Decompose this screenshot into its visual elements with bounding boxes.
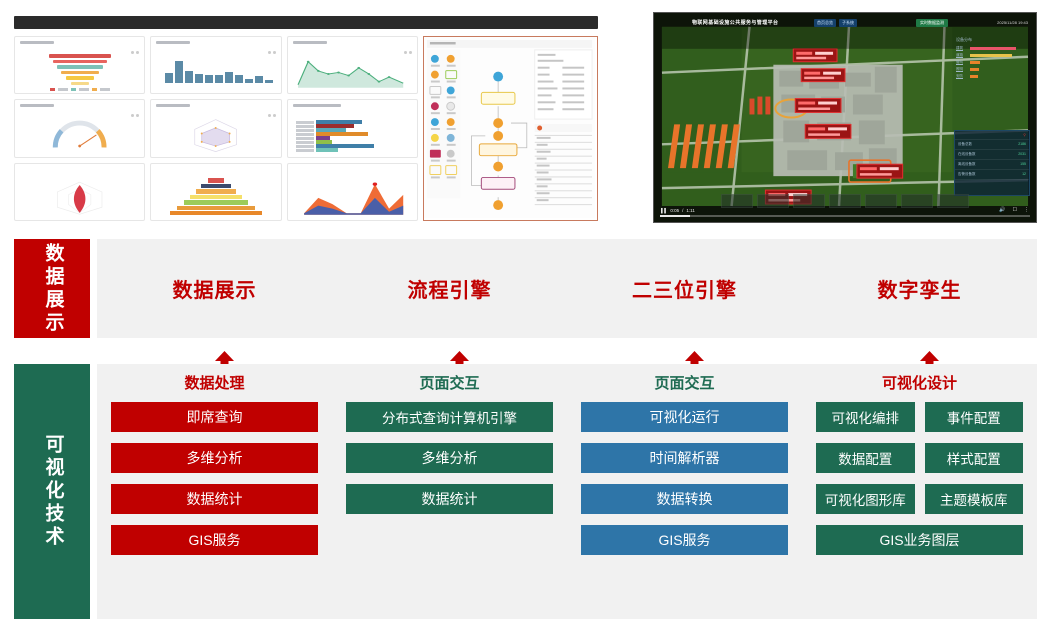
search-icon[interactable]: ⚲ [1023, 133, 1026, 137]
card-header [156, 41, 275, 45]
legend-title: 设备分布 [956, 37, 1030, 43]
tech-box[interactable]: GIS服务 [581, 525, 788, 555]
legend-row: 管网 [956, 60, 1030, 65]
panel-row-label: 在线设备数 [958, 152, 976, 157]
legend-label: 道路 [956, 53, 968, 58]
presentation-column-2: 二三位引擎 [567, 239, 802, 338]
tech-box[interactable]: 时间解析器 [581, 443, 788, 473]
panel-row-value: 2031 [1018, 152, 1026, 157]
presentation-band: 数据展示 数据展示 流程引擎 二三位引擎 数字孪生 [0, 239, 1051, 338]
bar-chart-card [150, 36, 281, 94]
video-time-display: ▌▌ 0:05 / 1:11 [661, 208, 695, 213]
column-title: 数据处理 [111, 372, 318, 393]
tech-box[interactable]: 可视化图形库 [816, 484, 915, 514]
legend-row: 照明 [956, 67, 1030, 72]
arrow-cell-3 [802, 338, 1037, 364]
realtime-monitor-button[interactable]: 实时数据监测 [916, 19, 948, 27]
panel-row: 设备总数2186 [955, 140, 1029, 150]
tech-box[interactable]: 多维分析 [111, 443, 318, 473]
tech-box[interactable]: 数据转换 [581, 484, 788, 514]
video-controls[interactable]: ▌▌ 0:05 / 1:11 🔊 ☐ ⋮ [654, 204, 1036, 222]
card-header [156, 104, 275, 108]
stacked-area-plot [292, 178, 413, 216]
panel-row-value: 2186 [1018, 142, 1026, 147]
flow-designer-panel [423, 36, 598, 221]
funnel-plot [19, 51, 140, 89]
fullscreen-icon[interactable]: ☐ [1013, 207, 1017, 213]
video-title: 物联网基础设施公共服务与管理平台 [692, 19, 778, 26]
video-control-icons[interactable]: 🔊 ☐ ⋮ [999, 207, 1029, 213]
presentation-column-title: 数字孪生 [878, 274, 962, 303]
tech-box[interactable]: 样式配置 [925, 443, 1024, 473]
column-box-list: 可视化运行 时间解析器 数据转换 GIS服务 [581, 402, 788, 555]
legend-label: 管网 [956, 60, 968, 65]
gauge-plot [19, 114, 140, 152]
more-options-icon[interactable]: ⋮ [1024, 207, 1029, 213]
video-progress-fill [660, 215, 690, 217]
arrow-cell-1 [332, 338, 567, 364]
presentation-column-title: 数据展示 [173, 274, 257, 303]
panel-search-placeholder [958, 133, 959, 137]
technology-sidebar: 可视化技术 [14, 364, 90, 619]
panel-search-row[interactable]: ⚲ [955, 131, 1029, 140]
presentation-sidebar: 数据展示 [14, 239, 90, 338]
tech-box[interactable]: 主题模板库 [925, 484, 1024, 514]
legend-panel: 设备分布 建筑 道路 管网 照明 安防 [956, 37, 1030, 81]
technology-column-page-interaction-blue: 页面交互 可视化运行 时间解析器 数据转换 GIS服务 [567, 364, 802, 619]
card-header [293, 41, 412, 45]
tech-box[interactable]: 分布式查询计算机引擎 [346, 402, 553, 432]
panel-row: 在线设备数2031 [955, 150, 1029, 160]
video-progress-bar[interactable] [660, 215, 1030, 217]
panel-row: 离线设备数155 [955, 160, 1029, 170]
panel-row-label: 设备总数 [958, 142, 972, 147]
legend-label: 照明 [956, 67, 968, 72]
pause-icon[interactable]: ▌▌ [661, 208, 667, 213]
digital-twin-video[interactable]: 物联网基础设施公共服务与管理平台 首页总览 子系统 实时数据监测 2025/11… [653, 12, 1037, 223]
panel-row-value: 155 [1020, 162, 1026, 167]
area-plot [292, 51, 413, 89]
dashboard-title-bar [14, 16, 598, 29]
legend-row: 道路 [956, 53, 1030, 58]
dashboard-chart-grid [14, 36, 418, 221]
radar-plot [155, 114, 276, 152]
technology-column-data-processing: 数据处理 即席查询 多维分析 数据统计 GIS服务 [97, 364, 332, 619]
legend-row: 建筑 [956, 46, 1030, 51]
horizontal-bar-card [287, 99, 418, 157]
arrow-cell-0 [97, 338, 332, 364]
column-box-grid: 可视化编排 事件配置 数据配置 样式配置 可视化图形库 主题模板库 GIS业务图… [816, 402, 1023, 555]
volume-icon[interactable]: 🔊 [999, 207, 1005, 213]
tech-box[interactable]: 可视化运行 [581, 402, 788, 432]
technology-band: 可视化技术 数据处理 即席查询 多维分析 数据统计 GIS服务 页面交互 分布式… [0, 364, 1051, 619]
hbar-plot [292, 114, 413, 152]
column-title: 页面交互 [581, 372, 788, 393]
area-chart-card [287, 36, 418, 94]
tech-box[interactable]: GIS服务 [111, 525, 318, 555]
tech-box[interactable]: 数据统计 [111, 484, 318, 514]
funnel-chart-card [14, 36, 145, 94]
technology-column-visual-design: 可视化设计 可视化编排 事件配置 数据配置 样式配置 可视化图形库 主题模板库 … [802, 364, 1037, 619]
arrow-cell-2 [567, 338, 802, 364]
panel-row-label: 告警设备数 [958, 172, 976, 177]
tech-box[interactable]: GIS业务图层 [816, 525, 1023, 555]
pyramid-chart-card [150, 163, 281, 221]
presentation-column-title: 流程引擎 [408, 274, 492, 303]
card-header [20, 104, 139, 108]
video-tabs[interactable]: 首页总览 子系统 [814, 19, 857, 27]
video-tab-0[interactable]: 首页总览 [814, 19, 836, 27]
technology-sidebar-label: 可视化技术 [42, 434, 63, 549]
media-row: 物联网基础设施公共服务与管理平台 首页总览 子系统 实时数据监测 2025/11… [0, 0, 1051, 233]
radar-filled-card [14, 163, 145, 221]
column-box-list: 即席查询 多维分析 数据统计 GIS服务 [111, 402, 318, 555]
panel-row-value: 12 [1022, 172, 1026, 177]
legend-label: 建筑 [956, 46, 968, 51]
presentation-sidebar-label: 数据展示 [42, 243, 63, 335]
technology-column-page-interaction-green: 页面交互 分布式查询计算机引擎 多维分析 数据统计 [332, 364, 567, 619]
radar-chart-card [150, 99, 281, 157]
device-stats-panel: ⚲ 设备总数2186 在线设备数2031 离线设备数155 告警设备数12 [954, 130, 1030, 196]
column-title: 页面交互 [346, 372, 553, 393]
stacked-area-card [287, 163, 418, 221]
video-tab-1[interactable]: 子系统 [839, 19, 857, 27]
legend-label: 安防 [956, 74, 968, 79]
column-title: 可视化设计 [816, 372, 1023, 393]
tech-box[interactable]: 即席查询 [111, 402, 318, 432]
video-datetime: 2025/11/28 19:43 [997, 20, 1028, 25]
time-separator: / [682, 208, 683, 213]
pyramid-plot [155, 178, 276, 216]
bi-dashboard-screenshot [14, 14, 598, 221]
radar-filled-plot [19, 178, 140, 216]
tech-box[interactable]: 多维分析 [346, 443, 553, 473]
card-header [293, 104, 412, 108]
panel-row: 告警设备数12 [955, 170, 1029, 180]
tech-box[interactable]: 可视化编排 [816, 402, 915, 432]
presentation-columns: 数据展示 流程引擎 二三位引擎 数字孪生 [97, 239, 1037, 338]
gauge-chart-card [14, 99, 145, 157]
presentation-column-title: 二三位引擎 [632, 274, 737, 303]
dashboard-body [14, 36, 598, 221]
arrow-row [97, 338, 1037, 364]
panel-row-label: 离线设备数 [958, 162, 976, 167]
presentation-column-3: 数字孪生 [802, 239, 1037, 338]
tech-box[interactable]: 数据统计 [346, 484, 553, 514]
column-box-list: 分布式查询计算机引擎 多维分析 数据统计 [346, 402, 553, 514]
card-header [20, 41, 139, 45]
technology-columns: 数据处理 即席查询 多维分析 数据统计 GIS服务 页面交互 分布式查询计算机引… [97, 364, 1037, 619]
tech-box[interactable]: 数据配置 [816, 443, 915, 473]
presentation-column-0: 数据展示 [97, 239, 332, 338]
total-time: 1:11 [686, 208, 694, 213]
presentation-column-1: 流程引擎 [332, 239, 567, 338]
tech-box[interactable]: 事件配置 [925, 402, 1024, 432]
current-time: 0:05 [670, 208, 679, 213]
bar-plot [155, 51, 276, 89]
legend-row: 安防 [956, 74, 1030, 79]
